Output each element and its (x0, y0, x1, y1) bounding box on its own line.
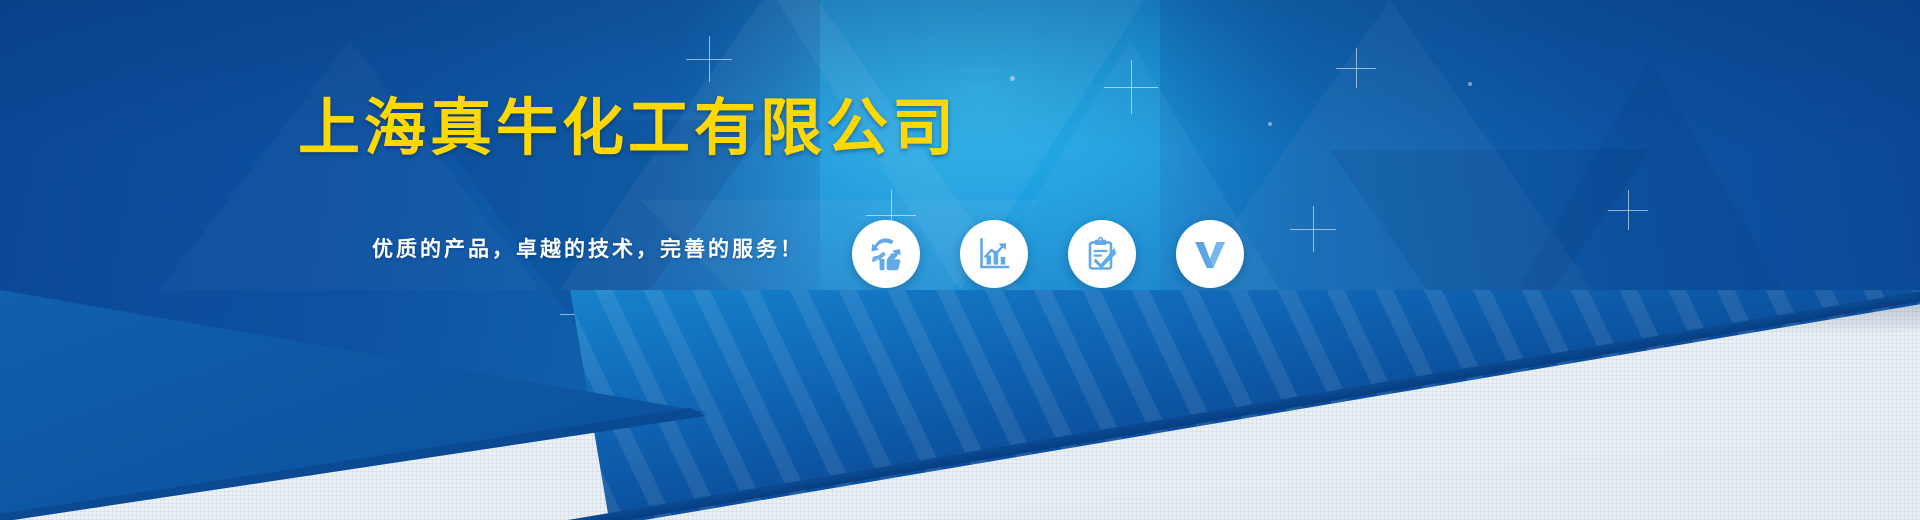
background-top-vignette (0, 0, 1920, 150)
banner-tagline: 优质的产品，卓越的技术，完善的服务！ (372, 232, 804, 266)
bottom-decoration (0, 290, 1920, 520)
clipboard-check-icon (1082, 234, 1122, 274)
refresh-thumbs-up-icon (866, 234, 906, 274)
company-hero-banner: 上海真牛化工有限公司 优质的产品，卓越的技术，完善的服务！ (0, 0, 1920, 520)
advantage-icon-badge (1068, 220, 1136, 288)
advantage-icon-badge (852, 220, 920, 288)
bar-chart-growth-icon (974, 234, 1014, 274)
v-logo-icon (1190, 234, 1230, 274)
advantage-icon-badge (960, 220, 1028, 288)
page-title: 上海真牛化工有限公司 (298, 88, 958, 168)
advantage-icon-badge (1176, 220, 1244, 288)
